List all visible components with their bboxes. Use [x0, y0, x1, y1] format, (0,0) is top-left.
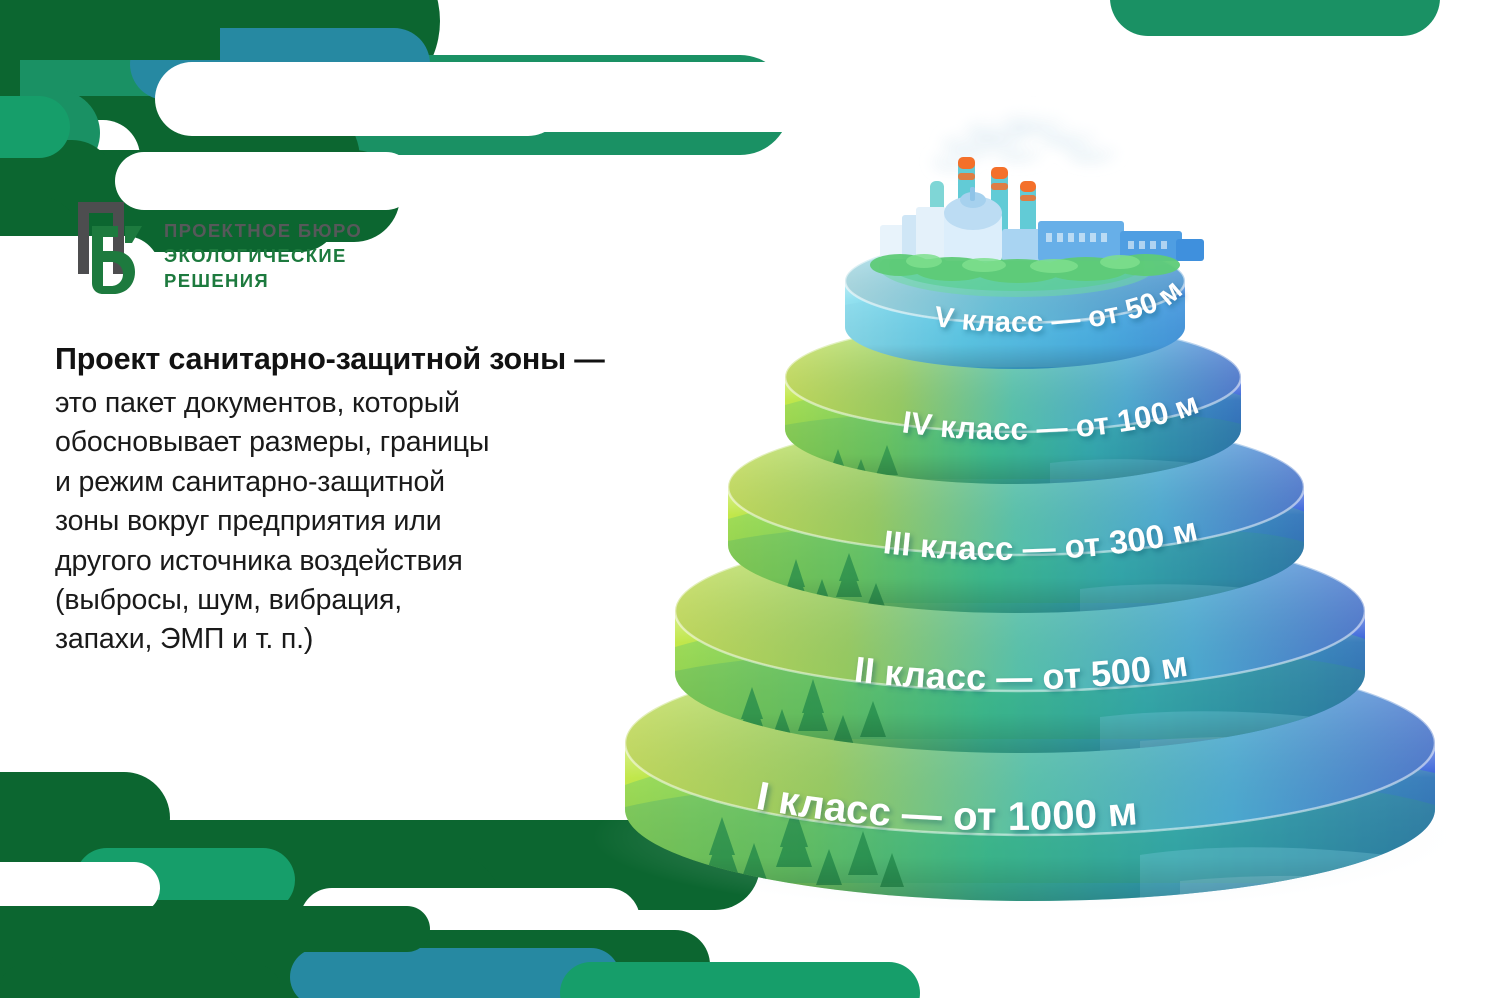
- decor-pill: [0, 906, 430, 952]
- infographic-page: ПРОЕКТНОЕ БЮРО ЭКОЛОГИЧЕСКИЕ РЕШЕНИЯ Про…: [0, 0, 1500, 998]
- brand-name-line-3: РЕШЕНИЯ: [164, 270, 362, 292]
- decor-pill: [0, 955, 70, 998]
- brand-name-line-2: ЭКОЛОГИЧЕСКИЕ: [164, 245, 362, 267]
- decor-pill: [0, 965, 280, 998]
- description-line: (выбросы, шум, вибрация,: [55, 581, 615, 620]
- decor-pill: [1110, 0, 1440, 36]
- brand-name-line-1: ПРОЕКТНОЕ БЮРО: [164, 220, 362, 242]
- decor-pill: [0, 940, 240, 998]
- decor-pill: [0, 855, 500, 950]
- description-line: и режим санитарно-защитной: [55, 463, 615, 502]
- brand-logo: ПРОЕКТНОЕ БЮРО ЭКОЛОГИЧЕСКИЕ РЕШЕНИЯ: [68, 196, 362, 316]
- decor-pill: [0, 103, 50, 179]
- decor-pill: [0, 886, 160, 948]
- description-line: это пакет документов, который: [55, 384, 615, 423]
- decor-pill: [0, 0, 440, 112]
- description-text: это пакет документов, который обосновыва…: [55, 384, 615, 660]
- pb-monogram-logo-icon: [68, 196, 146, 316]
- decor-pill: [560, 962, 920, 998]
- decor-pill: [290, 948, 620, 998]
- decor-pill: [0, 120, 140, 194]
- decor-pill: [75, 848, 295, 912]
- decor-pill: [0, 90, 100, 176]
- decor-pill: [0, 900, 440, 998]
- description-line: обосновывает размеры, границы: [55, 423, 615, 462]
- decor-pill: [0, 0, 220, 60]
- brand-wordmark: ПРОЕКТНОЕ БЮРО ЭКОЛОГИЧЕСКИЕ РЕШЕНИЯ: [164, 220, 362, 291]
- szz-class-pyramid-chart: I класс — от 1000 м: [580, 95, 1480, 925]
- page-title: Проект санитарно-защитной зоны —: [55, 340, 615, 380]
- factory-icon: [870, 109, 1204, 297]
- decor-pill: [0, 772, 170, 864]
- decor-pill: [130, 28, 430, 100]
- pyramid-tier-5[interactable]: V класс — от 50 м: [845, 109, 1204, 369]
- decor-pill: [0, 96, 70, 158]
- decor-pill: [0, 0, 20, 96]
- description-line: зоны вокруг предприятия или: [55, 502, 615, 541]
- description-line: запахи, ЭМП и т. п.): [55, 620, 615, 659]
- decor-pill: [250, 930, 710, 998]
- description-line: другого источника воздействия: [55, 542, 615, 581]
- decor-pill: [155, 62, 565, 136]
- description-block: Проект санитарно-защитной зоны — это пак…: [55, 340, 615, 660]
- decor-cutout: [0, 862, 160, 914]
- page-title-line-1: Проект санитарно-защитной: [55, 342, 481, 376]
